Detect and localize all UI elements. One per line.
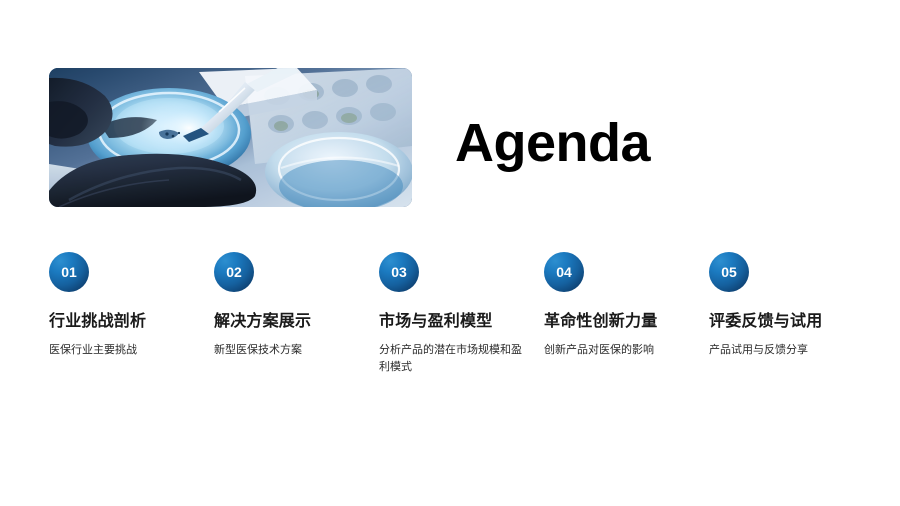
laboratory-petri-dish-photo <box>49 68 412 207</box>
page-title: Agenda <box>455 110 650 176</box>
agenda-item-1[interactable]: 01 行业挑战剖析 医保行业主要挑战 <box>49 252 199 359</box>
agenda-number-badge-3: 03 <box>379 252 419 292</box>
agenda-item-title-4: 革命性创新力量 <box>544 312 694 332</box>
slide-canvas: Agenda 01 行业挑战剖析 医保行业主要挑战 02 解决方案展示 新型医保… <box>0 0 900 506</box>
agenda-number-badge-2: 02 <box>214 252 254 292</box>
agenda-number-badge-5: 05 <box>709 252 749 292</box>
agenda-item-2[interactable]: 02 解决方案展示 新型医保技术方案 <box>214 252 364 359</box>
agenda-item-4[interactable]: 04 革命性创新力量 创新产品对医保的影响 <box>544 252 694 359</box>
agenda-item-title-3: 市场与盈利模型 <box>379 312 529 332</box>
agenda-item-5[interactable]: 05 评委反馈与试用 产品试用与反馈分享 <box>709 252 859 359</box>
agenda-list: 01 行业挑战剖析 医保行业主要挑战 02 解决方案展示 新型医保技术方案 03… <box>49 252 869 392</box>
agenda-item-title-2: 解决方案展示 <box>214 312 364 332</box>
agenda-item-title-5: 评委反馈与试用 <box>709 312 859 332</box>
agenda-item-desc-3: 分析产品的潜在市场规模和盈利模式 <box>379 342 529 376</box>
agenda-item-desc-4: 创新产品对医保的影响 <box>544 342 694 359</box>
agenda-item-title-1: 行业挑战剖析 <box>49 312 199 332</box>
agenda-item-desc-5: 产品试用与反馈分享 <box>709 342 859 359</box>
agenda-number-badge-4: 04 <box>544 252 584 292</box>
agenda-item-desc-1: 医保行业主要挑战 <box>49 342 199 359</box>
agenda-number-badge-1: 01 <box>49 252 89 292</box>
lab-photo-illustration <box>49 68 412 207</box>
agenda-item-desc-2: 新型医保技术方案 <box>214 342 364 359</box>
agenda-item-3[interactable]: 03 市场与盈利模型 分析产品的潜在市场规模和盈利模式 <box>379 252 529 376</box>
